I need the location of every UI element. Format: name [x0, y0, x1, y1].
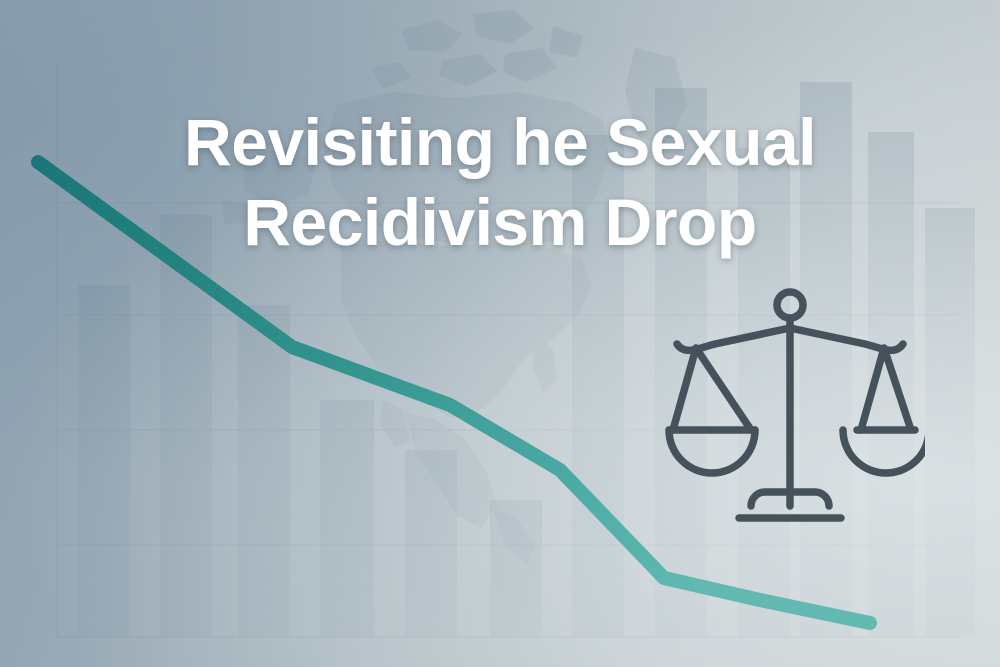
hero-banner: Revisiting he Sexual Recidivism Drop: [0, 0, 1000, 667]
scales-of-justice-icon: [655, 278, 925, 548]
